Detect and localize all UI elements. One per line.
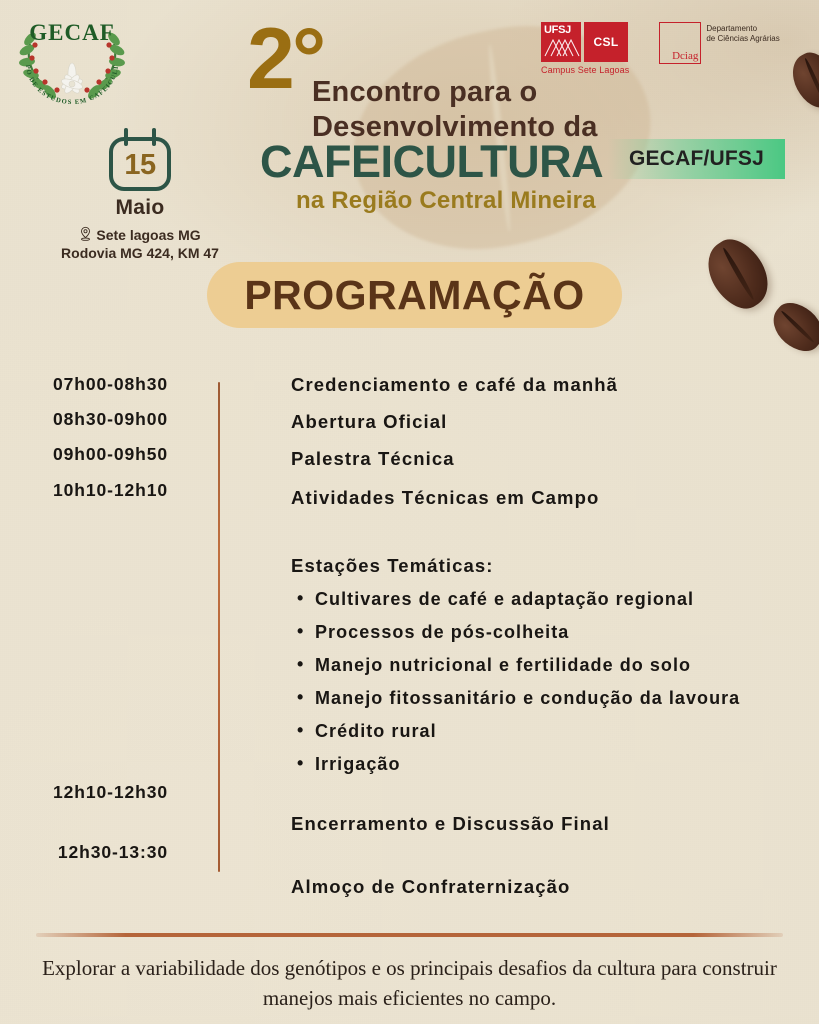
- svg-text:GECAF: GECAF: [29, 20, 115, 45]
- dciag-line2: de Ciências Agrárias: [706, 34, 779, 44]
- calendar-day: 15: [104, 128, 176, 194]
- dciag-mark: Dciag: [659, 22, 701, 64]
- station-item: Manejo fitossanitário e condução da lavo…: [291, 688, 811, 709]
- footer-text: Explorar a variabilidade dos genótipos e…: [28, 953, 791, 1014]
- station-item: Manejo nutricional e fertilidade do solo: [291, 655, 811, 676]
- schedule-vertical-divider: [218, 382, 220, 872]
- schedule-item: Palestra Técnica: [291, 448, 811, 470]
- station-item: Processos de pós-colheita: [291, 622, 811, 643]
- dciag-department-text: Departamento de Ciências Agrárias: [706, 22, 779, 44]
- location-city-row: Sete lagoas MG: [40, 226, 240, 244]
- csl-mark: CSL: [584, 22, 628, 62]
- event-title-line1: Encontro para o: [312, 76, 537, 109]
- location-pin-icon: [79, 226, 92, 244]
- location-city: Sete lagoas MG: [96, 227, 200, 243]
- organizer-badge: GECAF/UFSJ: [608, 139, 785, 179]
- schedule-time: 10h10-12h10: [0, 480, 196, 501]
- schedule-time: 12h10-12h30: [0, 782, 196, 803]
- schedule-item: Almoço de Confraternização: [291, 876, 811, 898]
- schedule-items-column: Credenciamento e café da manhã Abertura …: [291, 374, 811, 898]
- schedule-time: 12h30-13:30: [0, 842, 196, 863]
- schedule-time: 09h00-09h50: [0, 444, 196, 465]
- schedule-item: Encerramento e Discussão Final: [291, 813, 811, 835]
- schedule-item: Credenciamento e café da manhã: [291, 374, 811, 396]
- event-title-subtitle: na Região Central Mineira: [296, 187, 596, 215]
- schedule-item: Abertura Oficial: [291, 411, 811, 433]
- stations-list: Cultivares de café e adaptação regional …: [291, 589, 811, 775]
- ufsj-logo: UFSJ CSL Campus Sete Lagoas: [541, 22, 629, 75]
- stations-heading: Estações Temáticas:: [291, 555, 811, 577]
- dciag-logo: Dciag Departamento de Ciências Agrárias: [659, 22, 779, 64]
- coffee-bean-decoration-large: [696, 230, 779, 319]
- schedule-time: 08h30-09h00: [0, 409, 196, 430]
- coffee-bean-decoration-small: [764, 294, 819, 359]
- event-title-main: CAFEICULTURA: [260, 136, 603, 188]
- date-location-block: 15 Maio Sete lagoas MG Rodovia MG 424, K…: [40, 128, 240, 261]
- station-item: Crédito rural: [291, 721, 811, 742]
- location-address: Rodovia MG 424, KM 47: [40, 245, 240, 261]
- dciag-mark-label: Dciag: [672, 50, 698, 62]
- coffee-bean-decoration-top: [784, 46, 819, 114]
- program-heading: PROGRAMAÇÃO: [244, 272, 584, 319]
- station-item: Irrigação: [291, 754, 811, 775]
- ufsj-mark: UFSJ: [541, 22, 581, 62]
- ufsj-logo-marks: UFSJ CSL: [541, 22, 629, 62]
- ufsj-campus-caption: Campus Sete Lagoas: [541, 65, 629, 75]
- schedule-time: 07h00-08h30: [0, 374, 196, 395]
- coffee-flower-icon: [60, 63, 83, 95]
- calendar-icon: 15: [104, 128, 176, 194]
- schedule-item: Atividades Técnicas em Campo: [291, 487, 811, 509]
- schedule-times-column: 07h00-08h30 08h30-09h00 09h00-09h50 10h1…: [0, 374, 196, 863]
- dciag-line1: Departamento: [706, 24, 779, 34]
- footer-divider: [36, 933, 783, 937]
- gecaf-logo: GECAF GRUPO DE ESTUDOS EM CAFEICULTURA: [10, 8, 134, 112]
- program-heading-pill: PROGRAMAÇÃO: [207, 262, 622, 328]
- calendar-month: Maio: [40, 196, 240, 220]
- event-poster: GECAF GRUPO DE ESTUDOS EM CAFEICULTURA 1…: [0, 0, 819, 1024]
- sponsor-logos: UFSJ CSL Campus Sete Lagoas Dciag Depart…: [541, 22, 780, 75]
- station-item: Cultivares de café e adaptação regional: [291, 589, 811, 610]
